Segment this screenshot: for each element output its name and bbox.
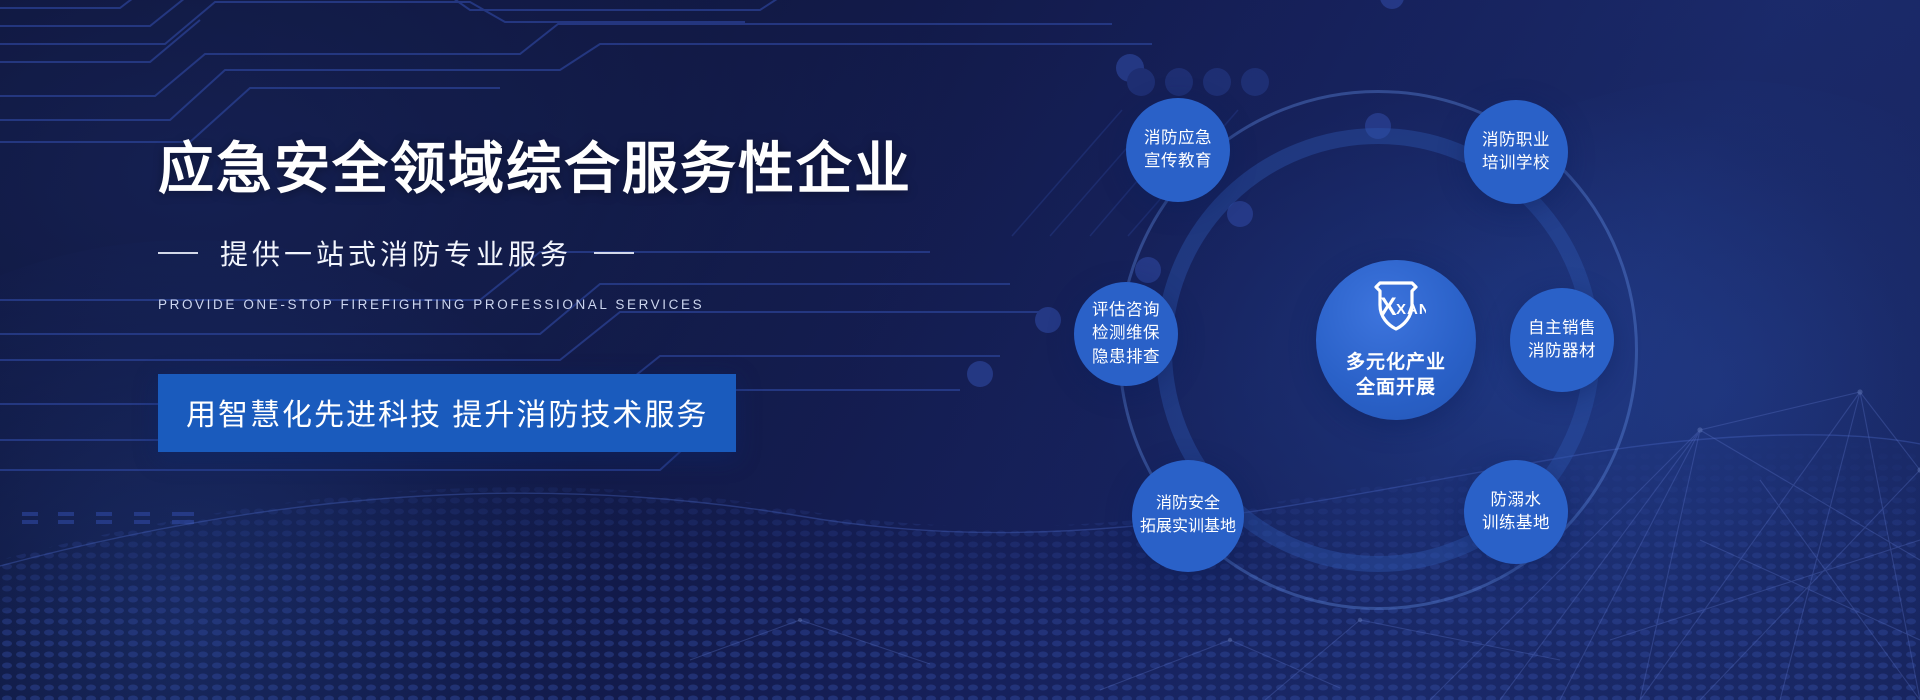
center-line-1: 多元化产业 <box>1346 351 1446 376</box>
bubble-fire-emergency-education[interactable]: 消防应急 宣传教育 <box>1126 98 1230 202</box>
hero-text-block: 应急安全领域综合服务性企业 提供一站式消防专业服务 PROVIDE ONE-ST… <box>158 138 898 452</box>
bubble-center-core-business[interactable]: X XAN 多元化产业 全面开展 <box>1316 260 1476 420</box>
english-subtitle: PROVIDE ONE-STOP FIREFIGHTING PROFESSION… <box>158 297 898 312</box>
bubble-line-2: 培训学校 <box>1482 152 1550 175</box>
dash-left-decoration <box>158 252 198 254</box>
subtitle-row: 提供一站式消防专业服务 <box>158 233 898 273</box>
subtitle: 提供一站式消防专业服务 <box>220 233 572 273</box>
bubble-line-2: 训练基地 <box>1482 512 1550 535</box>
hero-banner: 应急安全领域综合服务性企业 提供一站式消防专业服务 PROVIDE ONE-ST… <box>0 0 1920 700</box>
svg-text:XAN: XAN <box>1396 301 1426 318</box>
bubble-line-2: 检测维保 <box>1092 322 1160 345</box>
page-title: 应急安全领域综合服务性企业 <box>158 138 898 201</box>
bubble-line-1: 消防安全 <box>1156 493 1220 516</box>
bubble-line-2: 宣传教育 <box>1144 150 1212 173</box>
shield-xan-logo-icon: X XAN <box>1366 279 1426 343</box>
bubble-line-2: 消防器材 <box>1528 340 1596 363</box>
bubble-line-1: 自主销售 <box>1528 317 1596 340</box>
bubble-equipment-sales[interactable]: 自主销售 消防器材 <box>1510 288 1614 392</box>
cta-banner-button[interactable]: 用智慧化先进科技 提升消防技术服务 <box>158 374 736 452</box>
bubble-fire-vocational-school[interactable]: 消防职业 培训学校 <box>1464 100 1568 204</box>
bubble-line-1: 消防应急 <box>1144 127 1212 150</box>
center-line-2: 全面开展 <box>1356 376 1436 401</box>
bubble-line-1: 消防职业 <box>1482 129 1550 152</box>
services-circle-diagram: 消防应急 宣传教育 消防职业 培训学校 评估咨询 检测维保 隐患排查 自主销售 … <box>1086 60 1706 640</box>
bubble-line-1: 防溺水 <box>1491 489 1542 512</box>
bubble-line-3: 隐患排查 <box>1092 346 1160 369</box>
bubble-safety-training-base[interactable]: 消防安全 拓展实训基地 <box>1132 460 1244 572</box>
dash-right-decoration <box>594 252 634 254</box>
bubble-line-1: 评估咨询 <box>1092 299 1160 322</box>
bubble-assessment-inspection[interactable]: 评估咨询 检测维保 隐患排查 <box>1074 282 1178 386</box>
bubble-anti-drowning-base[interactable]: 防溺水 训练基地 <box>1464 460 1568 564</box>
bubble-line-2: 拓展实训基地 <box>1140 516 1236 539</box>
